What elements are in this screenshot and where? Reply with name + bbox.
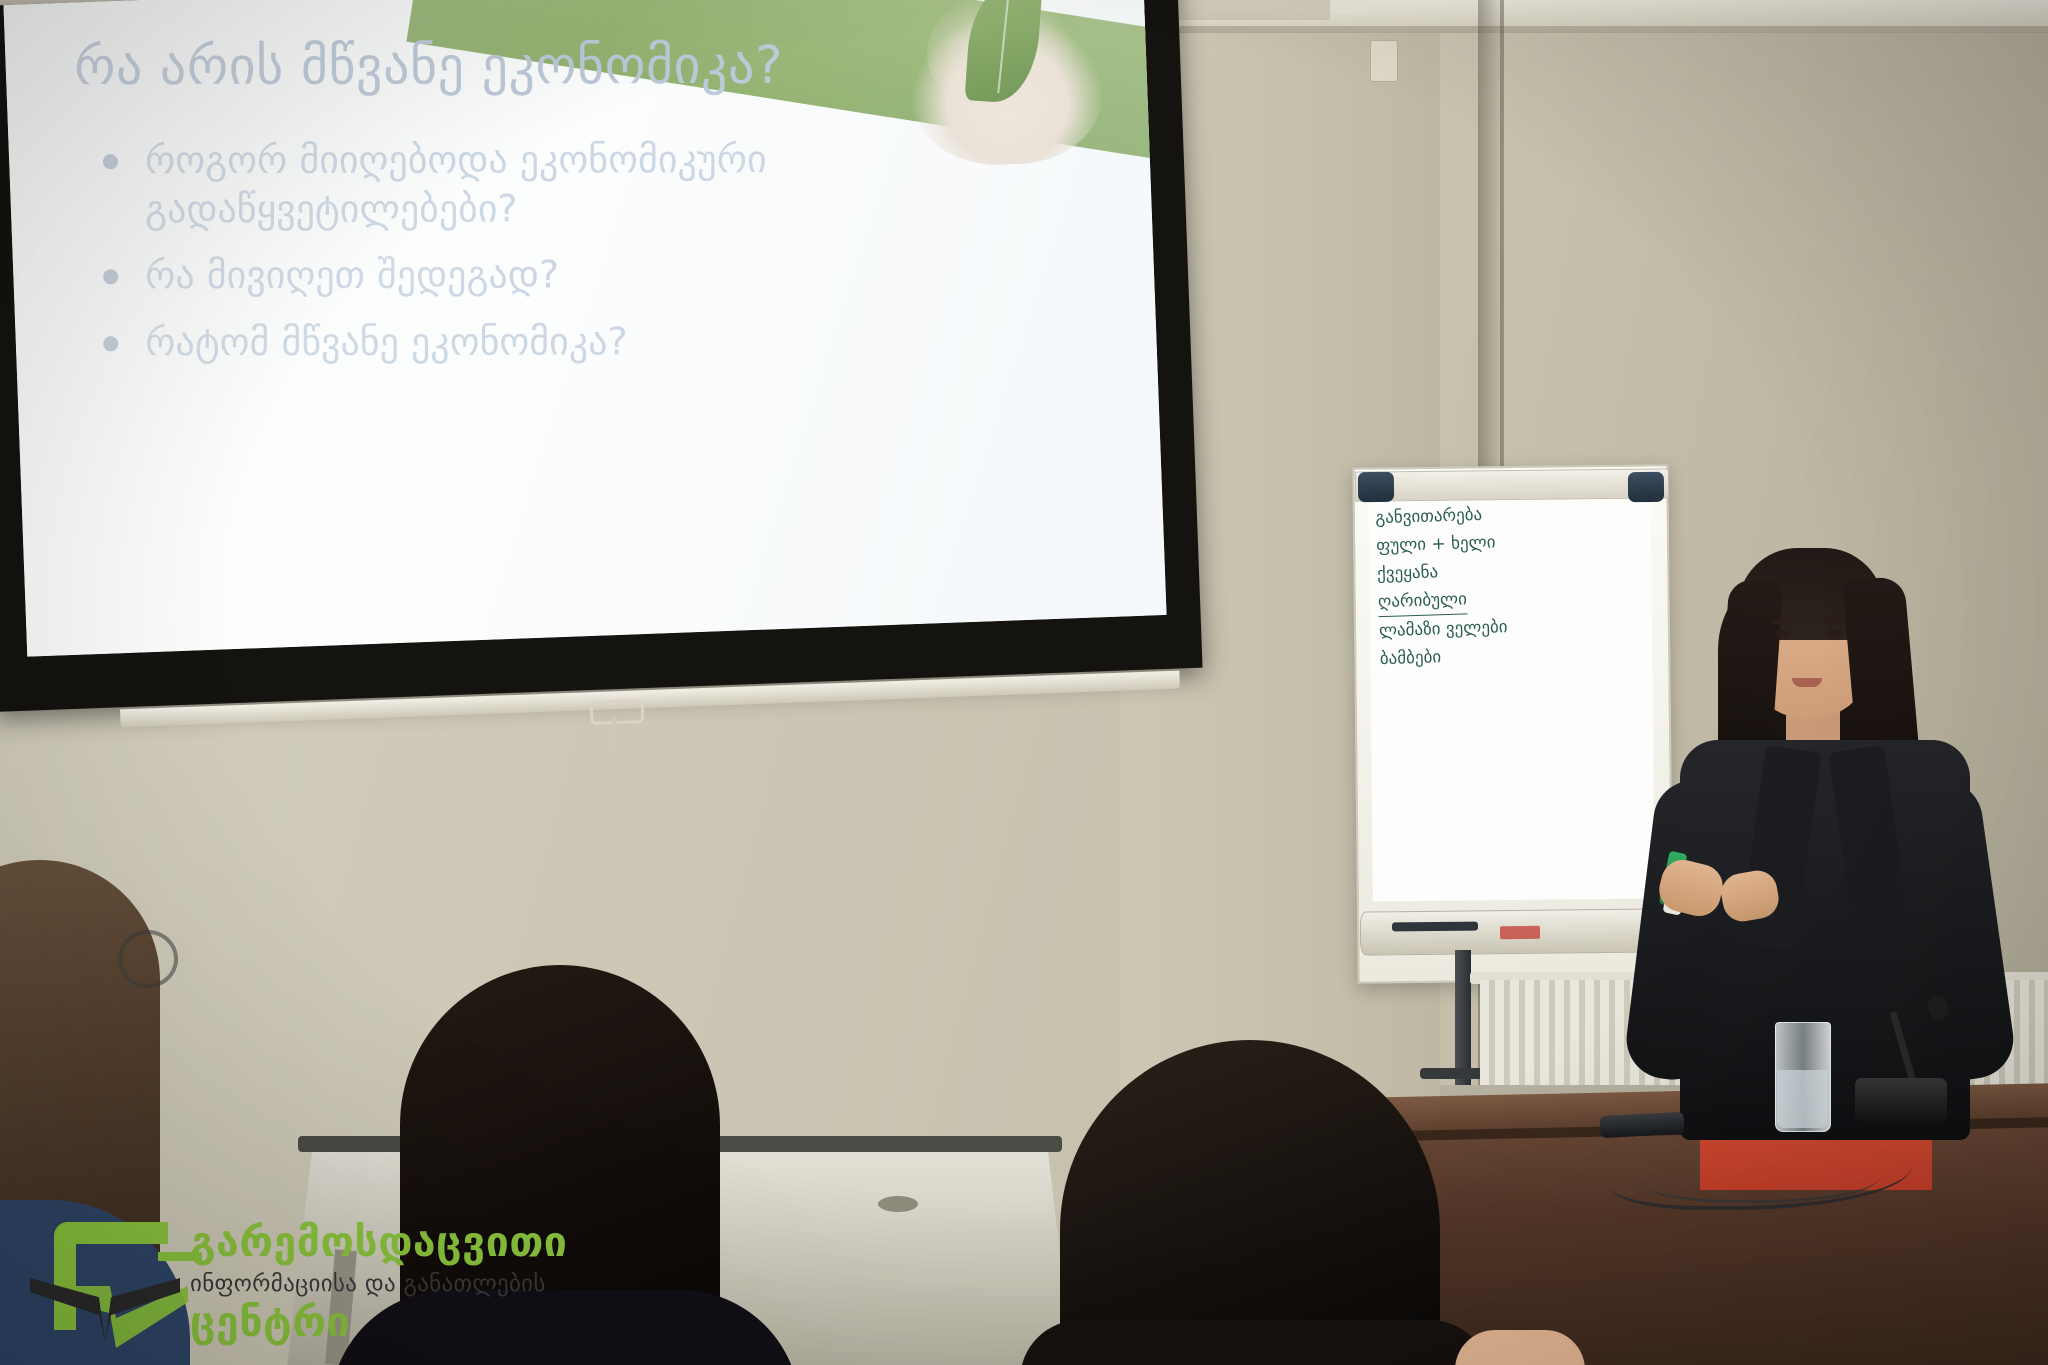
flipchart-knob-left[interactable] <box>1358 472 1394 502</box>
flipchart-clamp <box>1355 468 1669 501</box>
slide-title: რა არის მწვანე ეკონომიკა? <box>74 35 1074 97</box>
presenter-eye-right <box>1826 630 1843 637</box>
logo-line-3: ცენტრი <box>190 1302 690 1343</box>
presentation-slide: რა არის მწვანე ეკონომიკა? როგორ მიიღებოდ… <box>3 0 1166 657</box>
water-level <box>1777 1070 1827 1128</box>
presentation-remote <box>1599 1112 1684 1138</box>
slide-bullet-2: რა მივიღეთ შედეგად? <box>89 250 879 300</box>
audience-member-4-hand <box>1455 1330 1585 1365</box>
slide-bullet-3: რატომ მწვანე ეკონომიკა? <box>89 317 879 367</box>
flipchart-board: განვითარება ფული + ხელი ქვეყანა ღარიბული… <box>1352 464 1673 983</box>
presenter-eye-left <box>1774 630 1791 637</box>
flipchart-paper: განვითარება ფული + ხელი ქვეყანა ღარიბული… <box>1369 489 1655 902</box>
flipchart-marker[interactable] <box>1392 922 1478 932</box>
flipchart-handwriting: განვითარება ფული + ხელი ქვეყანა ღარიბული… <box>1375 496 1646 674</box>
ceiling-edge <box>1120 26 2048 33</box>
screen-surface: რა არის მწვანე ეკონომიკა? როგორ მიიღებოდ… <box>3 0 1166 657</box>
flipchart-brand-badge <box>1500 926 1540 939</box>
slide-bullet-1: როგორ მიიღებოდა ეკონომიკური გადაწყვეტილე… <box>89 135 879 234</box>
cable-2 <box>1640 1150 1880 1203</box>
logo-line-2: ინფორმაციისა და განათლების <box>190 1269 690 1300</box>
desk-cable-grommet <box>878 1196 918 1212</box>
eyeglasses-icon <box>118 930 178 988</box>
slide-bullet-list: როგორ მიიღებოდა ეკონომიკური გადაწყვეტილე… <box>89 135 879 385</box>
audience-member-3-shoulder <box>1020 1320 1490 1365</box>
flipchart-line-4: ღარიბული <box>1378 586 1468 618</box>
flipchart-knob-right[interactable] <box>1628 472 1664 502</box>
logo-line-1: გარემოსდაცვითი <box>190 1222 690 1263</box>
organization-logo: გარემოსდაცვითი ინფორმაციისა და განათლები… <box>30 1222 690 1352</box>
wall-sensor-icon <box>1370 40 1398 82</box>
presentation-room-photo: რა არის მწვანე ეკონომიკა? როგორ მიიღებოდ… <box>0 0 2048 1365</box>
screen-pull-handle <box>590 699 645 725</box>
microphone-base <box>1855 1078 1947 1122</box>
logo-book-icon <box>30 1222 178 1350</box>
logo-wordmark: გარემოსდაცვითი ინფორმაციისა და განათლები… <box>190 1222 690 1343</box>
presenter-mouth <box>1792 678 1822 687</box>
projection-screen: რა არის მწვანე ეკონომიკა? როგორ მიიღებოდ… <box>0 0 1203 712</box>
